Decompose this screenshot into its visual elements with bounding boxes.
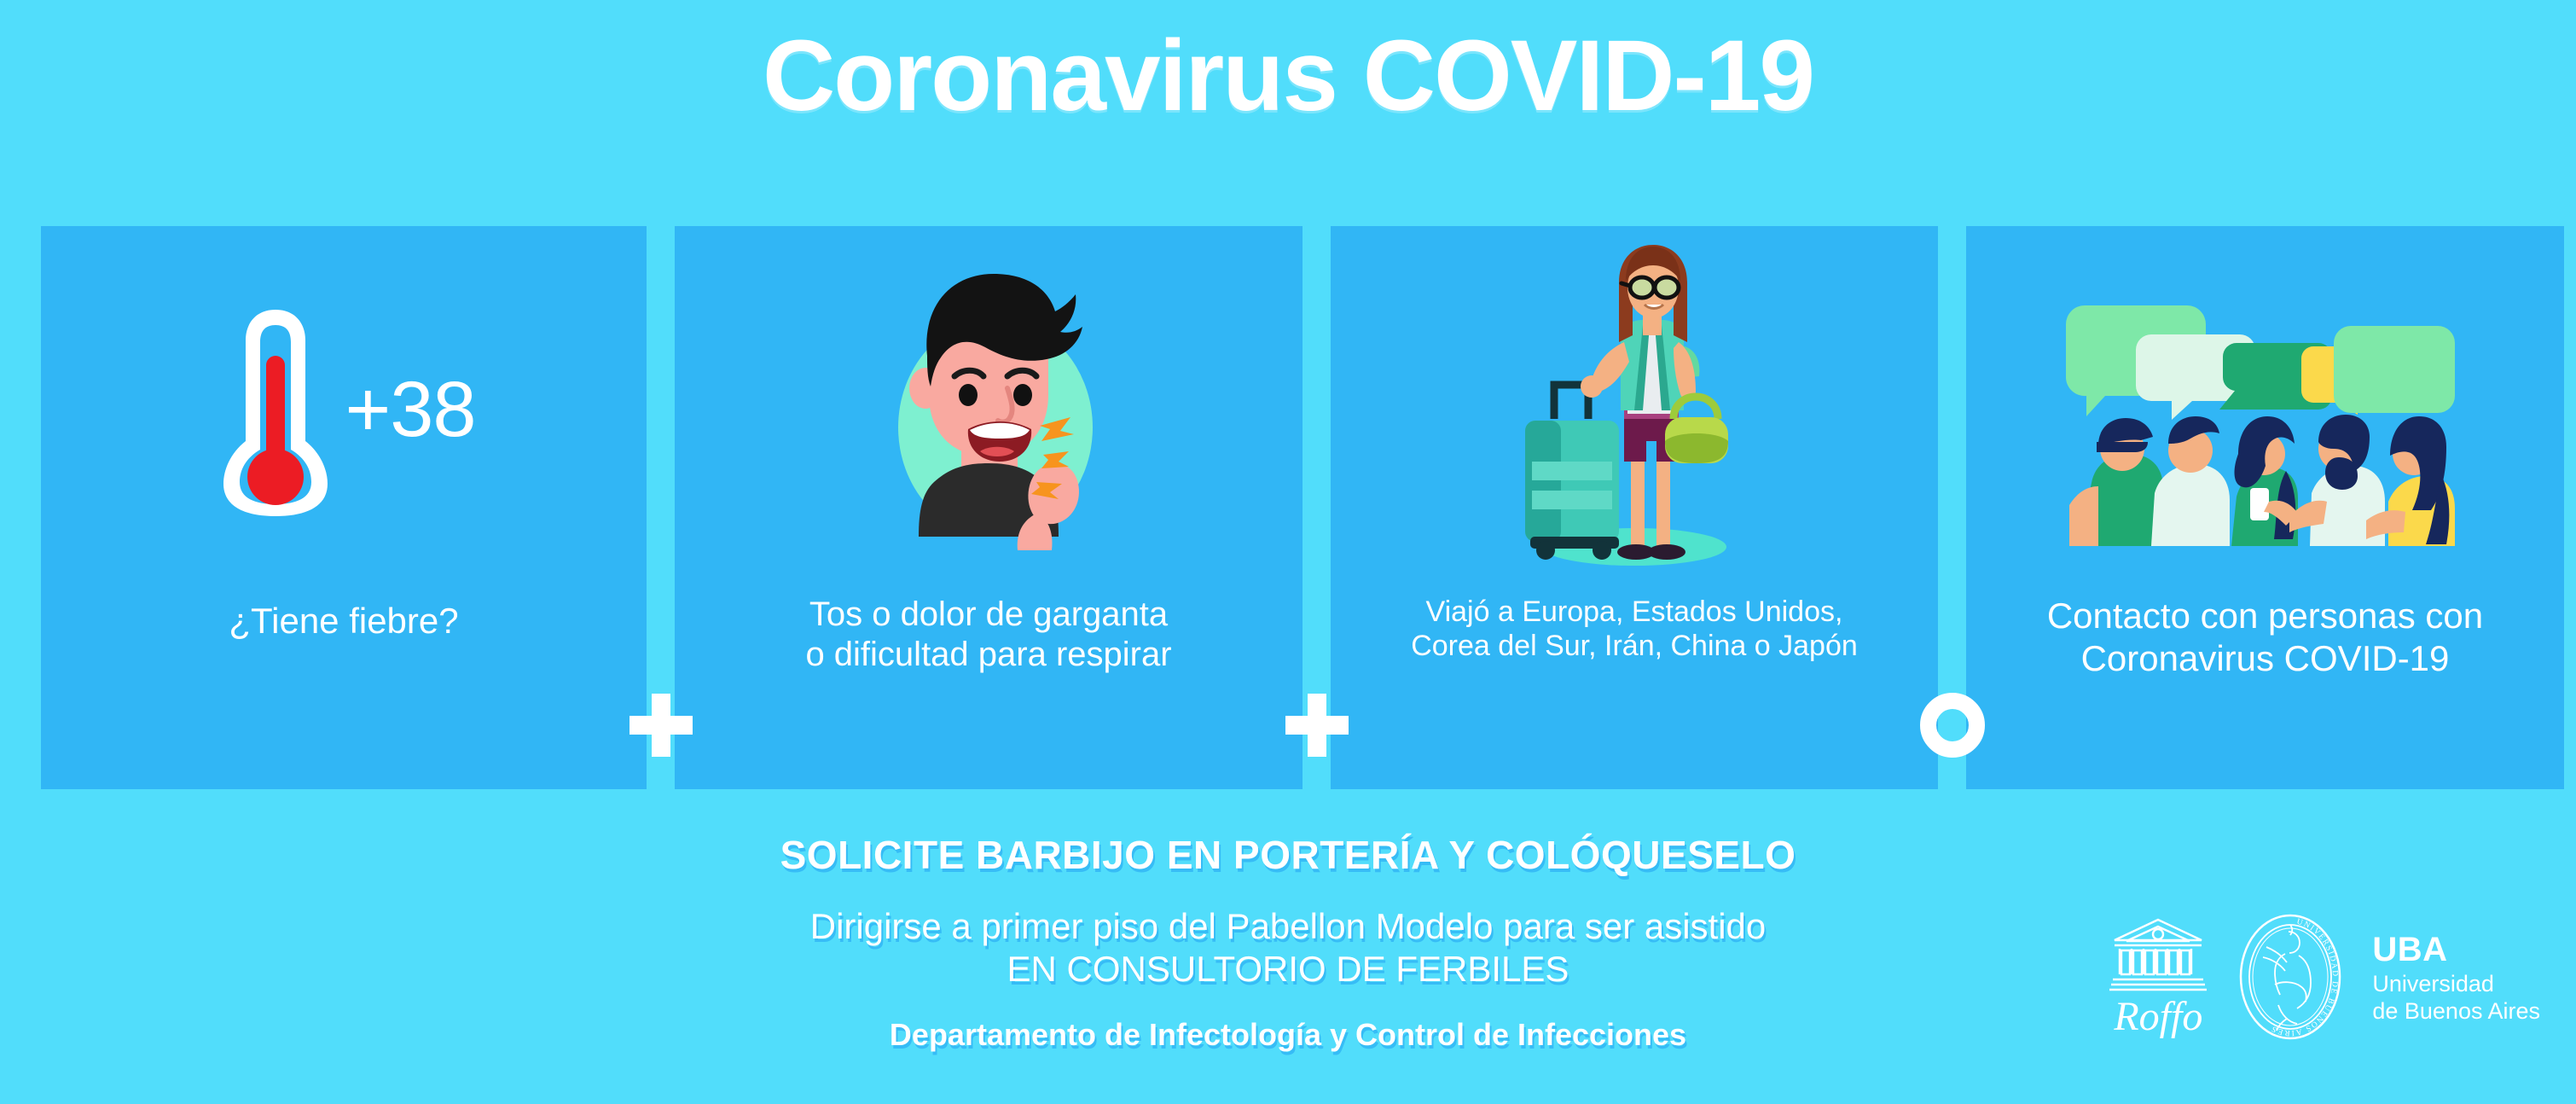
- panel-contact-caption: Contacto con personas con Coronavirus CO…: [2039, 595, 2492, 679]
- people-group-icon: [2069, 273, 2462, 546]
- panel-fever-caption: ¿Tiene fiebre?: [220, 600, 467, 642]
- separator-ring-o: [1920, 693, 1985, 758]
- panel-cough-caption-l1: Tos o dolor de garganta: [805, 595, 1171, 635]
- panel-contact-caption-l2: Coronavirus COVID-19: [2047, 637, 2483, 680]
- panel-travel: Viajó a Europa, Estados Unidos, Corea de…: [1331, 226, 1938, 789]
- panel-travel-caption-l2: Corea del Sur, Irán, China o Japón: [1411, 629, 1858, 663]
- fever-value: +38: [345, 365, 475, 455]
- fever-art: +38: [41, 226, 647, 593]
- uba-name-line2: de Buenos Aires: [2372, 997, 2540, 1025]
- roffo-label: Roffo: [2114, 997, 2202, 1037]
- temple-icon: [2108, 916, 2208, 995]
- footer-line-mask-request: SOLICITE BARBIJO EN PORTERÍA Y COLÓQUESE…: [0, 832, 2576, 878]
- roffo-logo: Roffo: [2108, 916, 2208, 1037]
- uba-wordmark: UBA Universidad de Buenos Aires: [2372, 929, 2540, 1026]
- uba-acronym: UBA: [2372, 929, 2540, 970]
- poster-root: Coronavirus COVID-19 +38: [0, 0, 2576, 1104]
- travel-art: [1331, 226, 1938, 593]
- cough-art: [675, 226, 1303, 593]
- contact-art: [1966, 226, 2564, 593]
- panel-contact-caption-l1: Contacto con personas con: [2047, 595, 2483, 637]
- panel-travel-caption-l1: Viajó a Europa, Estados Unidos,: [1411, 595, 1858, 629]
- logo-group: Roffo UNIVERSIDA: [2108, 913, 2540, 1041]
- panel-cough-caption-l2: o dificultad para respirar: [805, 635, 1171, 675]
- panel-cough-caption: Tos o dolor de garganta o dificultad par…: [797, 595, 1180, 675]
- coughing-person-icon: [861, 269, 1117, 550]
- panel-contact: Contacto con personas con Coronavirus CO…: [1966, 226, 2564, 789]
- panel-travel-caption: Viajó a Europa, Estados Unidos, Corea de…: [1402, 595, 1866, 663]
- uba-name-line1: Universidad: [2372, 970, 2540, 997]
- separator-plus-1: [629, 694, 693, 757]
- uba-seal-icon: UNIVERSIDAD DE BUENOS AIRES: [2237, 913, 2343, 1041]
- symptom-panels: +38 ¿Tiene fiebre?: [41, 226, 2536, 789]
- traveler-with-luggage-icon: [1506, 243, 1762, 576]
- panel-cough: Tos o dolor de garganta o dificultad par…: [675, 226, 1303, 789]
- thermometer-icon: [212, 303, 339, 516]
- uba-seal-text: UNIVERSIDAD DE BUENOS AIRES: [2270, 918, 2339, 1037]
- panel-fever: +38 ¿Tiene fiebre?: [41, 226, 647, 789]
- separator-plus-2: [1285, 694, 1349, 757]
- page-title: Coronavirus COVID-19: [0, 24, 2576, 130]
